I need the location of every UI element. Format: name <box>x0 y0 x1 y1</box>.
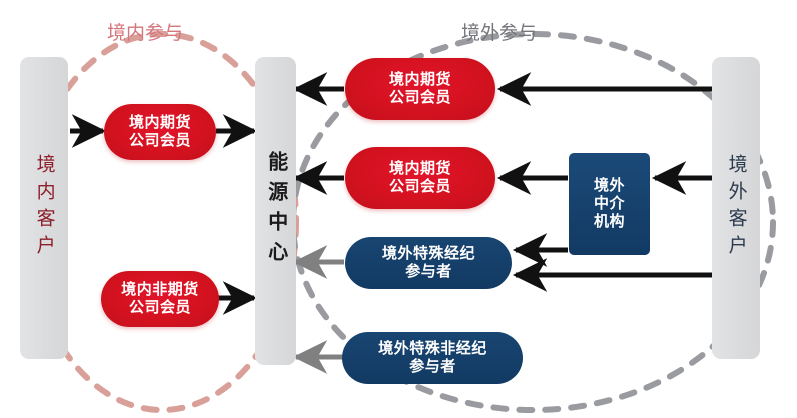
node-line-2: 中介 <box>594 195 625 213</box>
node-line-3: 机构 <box>594 213 625 231</box>
node-domestic-futures-member-mid-right[interactable]: 境内期货 公司会员 <box>345 147 495 209</box>
node-line-1: 境内期货 <box>389 160 451 178</box>
pillar-overseas-customer[interactable]: 境外客户 <box>712 57 760 359</box>
diagram-canvas: 境内参与 境外参与 境内客户 能源中心 境外客户 境内期货 公司会员 境内非期货… <box>0 0 797 418</box>
caption-domestic-participation: 境内参与 <box>107 18 183 45</box>
node-domestic-nonfutures-member-left[interactable]: 境内非期货 公司会员 <box>101 271 219 327</box>
node-line-2: 公司会员 <box>129 299 191 317</box>
pillar-domestic-customer-label: 境内客户 <box>32 154 55 262</box>
node-line-2: 公司会员 <box>389 89 451 107</box>
node-domestic-futures-member-top-right[interactable]: 境内期货 公司会员 <box>345 58 495 120</box>
node-line-1: 境外特殊经纪 <box>382 245 475 263</box>
node-line-2: 参与者 <box>405 263 452 281</box>
node-line-2: 参与者 <box>409 358 456 376</box>
node-line-1: 境内期货 <box>389 71 451 89</box>
pillar-domestic-customer[interactable]: 境内客户 <box>20 57 68 359</box>
node-overseas-intermediary[interactable]: 境外 中介 机构 <box>569 153 650 255</box>
node-line-1: 境外 <box>594 177 625 195</box>
node-line-1: 境内期货 <box>129 114 191 132</box>
node-overseas-special-nonbroker[interactable]: 境外特殊非经纪 参与者 <box>342 332 523 384</box>
node-overseas-special-broker[interactable]: 境外特殊经纪 参与者 <box>345 237 512 289</box>
node-domestic-futures-member-left[interactable]: 境内期货 公司会员 <box>104 104 216 160</box>
node-line-2: 公司会员 <box>129 132 191 150</box>
pillar-energy-center[interactable]: 能源中心 <box>255 57 296 365</box>
node-line-2: 公司会员 <box>389 178 451 196</box>
node-line-1: 境内非期货 <box>121 281 199 299</box>
pillar-overseas-customer-label: 境外客户 <box>724 154 747 262</box>
node-line-1: 境外特殊非经纪 <box>378 340 487 358</box>
pillar-energy-center-label: 能源中心 <box>263 151 287 271</box>
caption-overseas-participation: 境外参与 <box>461 18 537 45</box>
